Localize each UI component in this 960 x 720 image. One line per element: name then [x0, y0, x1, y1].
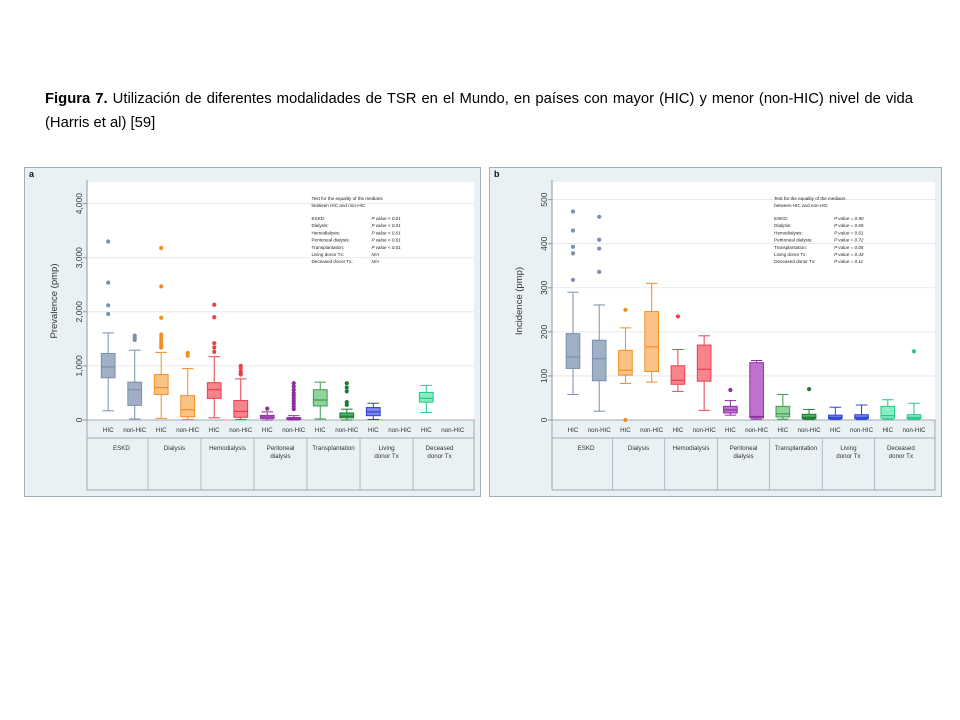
outlier-point: [345, 389, 349, 393]
box: [128, 382, 142, 405]
legend-row-value: P value = 0.11: [834, 259, 863, 264]
x-sublabel: non-HIC: [123, 427, 147, 434]
legend-row-label: Dialysis:: [774, 223, 791, 228]
outlier-point: [212, 315, 216, 319]
x-sublabel: non-HIC: [693, 427, 717, 434]
legend-row-value: P value < 0.01: [371, 216, 401, 221]
x-sublabel: non-HIC: [335, 427, 359, 434]
box: [750, 363, 764, 418]
x-group-label: Living: [378, 445, 395, 452]
x-sublabel: HIC: [882, 427, 893, 434]
outlier-point: [159, 284, 163, 288]
panel-letter-b: b: [494, 169, 500, 179]
x-group-label: Living: [840, 445, 857, 452]
legend-row-value: P value = 0.61: [834, 230, 864, 235]
x-group-label: dialysis: [733, 453, 753, 460]
figure-caption: Figura 7. Utilización de diferentes moda…: [45, 88, 913, 136]
legend-row-value: P value < 0.01: [371, 223, 401, 228]
outlier-point: [133, 338, 137, 342]
outlier-point: [597, 246, 601, 250]
outlier-point: [212, 350, 216, 354]
box: [566, 334, 580, 369]
x-sublabel: non-HIC: [229, 427, 253, 434]
legend-row-value: P value = 0.90: [834, 216, 864, 221]
outlier-point: [212, 303, 216, 307]
box: [419, 392, 433, 402]
outlier-point: [106, 303, 110, 307]
x-sublabel: non-HIC: [745, 427, 769, 434]
legend-row-label: Living donor Tx:: [774, 252, 807, 257]
legend-title-line2: between HIC and non-HIC: [774, 203, 829, 208]
x-sublabel: HIC: [262, 427, 273, 434]
x-group-label: Transplantation: [312, 445, 355, 452]
x-sublabel: HIC: [103, 427, 114, 434]
legend-title-line1: Test for the equality of the medians: [311, 196, 383, 201]
x-sublabel: non-HIC: [588, 427, 612, 434]
legend-row-label: Transplantation:: [774, 245, 807, 250]
legend-row-value: P value = 0.43: [834, 252, 864, 257]
figure-caption-label: Figura 7.: [45, 91, 108, 107]
y-tick-label: 400: [539, 236, 549, 250]
x-group-label: Dialysis: [164, 445, 185, 452]
plot-background: [87, 182, 474, 420]
box: [881, 406, 895, 418]
x-group-label: donor Tx: [889, 453, 914, 460]
legend-row-value: P value < 0.01: [371, 230, 401, 235]
outlier-point: [571, 278, 575, 282]
x-sublabel: non-HIC: [282, 427, 306, 434]
legend-row-value: N/A: [371, 252, 379, 257]
legend-row-label: ESKD:: [311, 216, 325, 221]
panel-a-plot: 01,0002,0003,0004,000Prevalence (pmp)HIC…: [25, 168, 480, 496]
legend-row-value: P value = 0.05: [834, 245, 864, 250]
outlier-point: [623, 418, 627, 422]
box: [207, 383, 221, 399]
legend-row-label: ESKD:: [774, 216, 788, 221]
box: [776, 406, 790, 417]
x-sublabel: non-HIC: [388, 427, 412, 434]
outlier-point: [159, 246, 163, 250]
outlier-point: [676, 314, 680, 318]
outlier-point: [106, 312, 110, 316]
legend-row-value: P value = 0.72: [834, 238, 864, 243]
outlier-point: [623, 308, 627, 312]
box: [592, 340, 606, 381]
x-sublabel: HIC: [315, 427, 326, 434]
x-sublabel: HIC: [421, 427, 432, 434]
y-tick-label: 1,000: [74, 355, 84, 377]
box: [101, 353, 115, 377]
legend-row-value: P value < 0.01: [371, 245, 401, 250]
x-group-label: dialysis: [270, 453, 290, 460]
x-group-label: Deceased: [426, 445, 454, 452]
outlier-point: [159, 316, 163, 320]
outlier-point: [807, 387, 811, 391]
x-sublabel: non-HIC: [902, 427, 926, 434]
x-group-label: ESKD: [113, 445, 130, 452]
outlier-point: [106, 239, 110, 243]
box: [907, 415, 921, 419]
box: [619, 350, 633, 375]
legend-row-label: Deceased donor Tx:: [774, 259, 815, 264]
outlier-point: [597, 215, 601, 219]
outlier-point: [571, 228, 575, 232]
x-sublabel: HIC: [673, 427, 684, 434]
x-sublabel: non-HIC: [850, 427, 874, 434]
y-tick-label: 200: [539, 324, 549, 338]
x-group-label: Hemodialysis: [673, 445, 710, 452]
outlier-point: [159, 345, 163, 349]
y-tick-label: 300: [539, 280, 549, 294]
legend-row-value: N/A: [371, 259, 379, 264]
legend-row-label: Transplantation:: [311, 245, 344, 250]
panel-letter-a: a: [29, 169, 34, 179]
boxplot-svg-a: 01,0002,0003,0004,000Prevalence (pmp)HIC…: [25, 168, 480, 496]
y-axis-label: Prevalence (pmp): [49, 264, 60, 339]
outlier-point: [597, 238, 601, 242]
x-sublabel: HIC: [568, 427, 579, 434]
y-tick-label: 3,000: [74, 247, 84, 269]
x-group-label: ESKD: [578, 445, 595, 452]
x-group-label: Peritoneal: [730, 445, 758, 452]
x-sublabel: HIC: [156, 427, 167, 434]
outlier-point: [345, 385, 349, 389]
outlier-point: [571, 245, 575, 249]
outlier-point: [597, 270, 601, 274]
legend-title-line1: Test for the equality of the medians: [774, 196, 846, 201]
boxplot-svg-b: 0100200300400500Incidence (pmp)HICnon-HI…: [490, 168, 941, 496]
x-sublabel: non-HIC: [640, 427, 664, 434]
legend-row-label: Dialysis:: [311, 223, 328, 228]
legend-row-label: Deceased donor Tx:: [311, 259, 352, 264]
outlier-point: [106, 281, 110, 285]
y-tick-label: 2,000: [74, 301, 84, 323]
box: [671, 366, 685, 385]
legend-row-label: Peritoneal dialysis:: [311, 238, 349, 243]
x-sublabel: HIC: [620, 427, 631, 434]
figure-panels: a 01,0002,0003,0004,000Prevalence (pmp)H…: [24, 167, 942, 497]
box: [313, 390, 327, 406]
x-sublabel: HIC: [778, 427, 789, 434]
box: [234, 401, 248, 418]
x-group-label: donor Tx: [836, 453, 861, 460]
x-sublabel: HIC: [830, 427, 841, 434]
outlier-point: [239, 372, 243, 376]
x-group-label: donor Tx: [374, 453, 399, 460]
outlier-point: [212, 345, 216, 349]
box: [340, 413, 354, 418]
y-tick-label: 0: [74, 417, 84, 422]
chart-panel-b: b 0100200300400500Incidence (pmp)HICnon-…: [489, 167, 942, 497]
box: [645, 312, 659, 372]
box: [697, 345, 711, 381]
box: [181, 396, 195, 417]
legend-row-value: P value < 0.01: [371, 238, 401, 243]
panel-b-plot: 0100200300400500Incidence (pmp)HICnon-HI…: [490, 168, 941, 496]
y-tick-label: 4,000: [74, 193, 84, 215]
outlier-point: [186, 354, 190, 358]
legend-row-label: Peritoneal dialysis:: [774, 238, 812, 243]
x-group-label: Deceased: [887, 445, 915, 452]
x-sublabel: HIC: [209, 427, 220, 434]
y-tick-label: 0: [539, 417, 549, 422]
figure-caption-text: Utilización de diferentes modalidades de…: [45, 91, 913, 131]
outlier-point: [345, 403, 349, 407]
legend-row-label: Hemodialysis:: [311, 230, 340, 235]
x-sublabel: non-HIC: [441, 427, 465, 434]
outlier-point: [212, 341, 216, 345]
y-tick-label: 500: [539, 192, 549, 206]
legend-row-label: Hemodialysis:: [774, 230, 803, 235]
x-group-label: donor Tx: [427, 453, 452, 460]
x-sublabel: HIC: [368, 427, 379, 434]
plot-background: [552, 182, 935, 420]
outlier-point: [571, 251, 575, 255]
x-group-label: Hemodialysis: [209, 445, 246, 452]
chart-panel-a: a 01,0002,0003,0004,000Prevalence (pmp)H…: [24, 167, 481, 497]
outlier-point: [912, 349, 916, 353]
x-sublabel: non-HIC: [176, 427, 200, 434]
y-axis-label: Incidence (pmp): [514, 267, 525, 335]
outlier-point: [728, 388, 732, 392]
outlier-point: [292, 407, 296, 411]
box: [802, 414, 816, 418]
box: [855, 415, 869, 419]
x-group-label: Peritoneal: [267, 445, 295, 452]
x-sublabel: non-HIC: [798, 427, 822, 434]
legend-row-label: Living donor Tx:: [311, 252, 344, 257]
outlier-point: [345, 381, 349, 385]
x-group-label: Transplantation: [775, 445, 818, 452]
x-group-label: Dialysis: [628, 445, 649, 452]
boxplot-peritoneal-dialysis-non-HIC: [750, 361, 764, 420]
outlier-point: [571, 209, 575, 213]
y-tick-label: 100: [539, 369, 549, 383]
box: [154, 375, 168, 395]
outlier-point: [265, 407, 269, 411]
legend-row-value: P value = 0.65: [834, 223, 864, 228]
legend-title-line2: between HIC and non-HIC: [311, 203, 366, 208]
x-sublabel: HIC: [725, 427, 736, 434]
